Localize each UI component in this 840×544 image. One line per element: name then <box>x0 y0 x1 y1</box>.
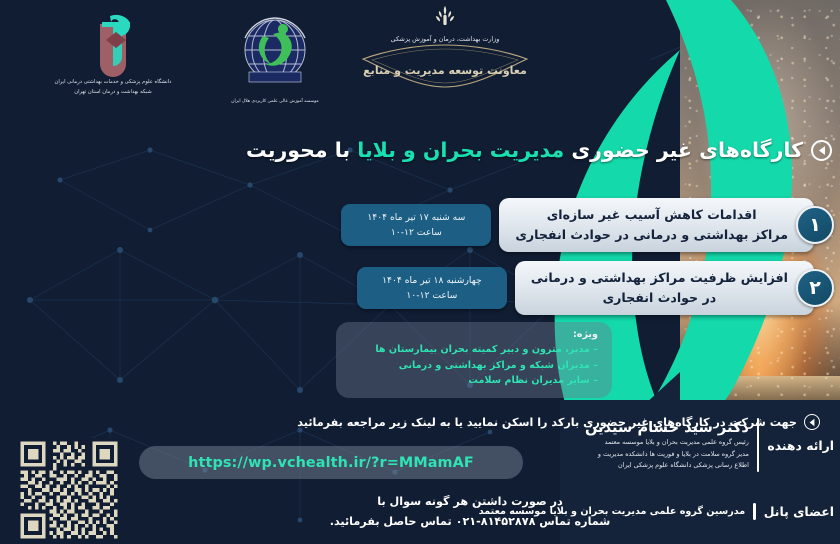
ministry-deputy-caption: معاونت توسعه مدیریت و منابع <box>345 64 545 77</box>
session-number-badge: ۲ <box>796 269 834 307</box>
presenter-title: مدیر گروه سلامت در بلایا و فوریت ها دانش… <box>585 449 749 460</box>
iums-logo-caption-line1: دانشگاه علوم پزشکی و خدمات بهداشتی درمان… <box>18 78 208 88</box>
presenter-details: دکتر سید حسام سیدین رئیس گروه علمی مدیری… <box>585 419 749 471</box>
audience-item: مدیر، مترون و دبیر کمیته بحران بیمارستان… <box>350 342 598 358</box>
session-time: ساعت ۱۲-۱۰ <box>391 225 442 240</box>
audience-list: مدیر، مترون و دبیر کمیته بحران بیمارستان… <box>350 342 598 389</box>
iums-logo: دانشگاه علوم پزشکی و خدمات بهداشتی درمان… <box>18 10 208 98</box>
title-suffix: با محوریت <box>246 138 350 162</box>
motamed-institute-logo: موسسه آموزش عالی علمی کاربردی هلال ایران <box>200 10 350 105</box>
panel-label: اعضای پانل <box>764 504 834 519</box>
session-row: ۱ اقدامات کاهش آسیب غیر سازه‌ای مراکز به… <box>341 198 834 252</box>
title-prefix: کارگاه‌های غیر حضوری <box>571 138 803 162</box>
audience-heading: ویژه: <box>350 329 598 340</box>
registration-link-button[interactable]: https://wp.vchealth.ir/?r=MMamAF <box>139 446 523 479</box>
session-time: ساعت ۱۲-۱۰ <box>406 288 457 303</box>
presenter-label: ارائه دهنده <box>767 438 834 453</box>
presenter-title: اطلاع رسانی پزشکی دانشگاه علوم پزشکی ایر… <box>585 460 749 471</box>
audience-item: سایر مدیران نظام سلامت <box>350 373 598 389</box>
qr-code-icon[interactable] <box>17 438 121 542</box>
motamed-logo-caption: موسسه آموزش عالی علمی کاربردی هلال ایران <box>200 98 350 105</box>
title-highlight: مدیریت بحران و بلایا <box>357 138 564 162</box>
ministry-of-health-logo: وزارت بهداشت، درمان و آموزش پزشکی معاونت… <box>345 4 545 108</box>
session-number-badge: ۱ <box>796 206 834 244</box>
session-row: ۲ افزایش ظرفیت مراکز بهداشتی و درمانی در… <box>357 261 834 315</box>
presenter-block: ارائه دهنده دکتر سید حسام سیدین رئیس گرو… <box>585 418 834 472</box>
panel-divider <box>753 503 756 520</box>
poster-canvas: دانشگاه علوم پزشکی و خدمات بهداشتی درمان… <box>0 0 840 544</box>
panel-members-text: مدرسین گروه علمی مدیریت بحران و بلایا مو… <box>479 506 746 517</box>
iums-logo-caption-line2: شبکه بهداشت و درمان استان تهران <box>18 88 208 98</box>
header-logos: دانشگاه علوم پزشکی و خدمات بهداشتی درمان… <box>0 0 560 126</box>
presenter-title: رئیس گروه علمی مدیریت بحران و بلایا موسس… <box>585 437 749 448</box>
chevron-left-circle-icon <box>811 140 832 161</box>
audience-item: مدیران شبکه و مراکز بهداشتی و درمانی <box>350 358 598 374</box>
session-date-plate: چهارشنبه ۱۸ تیر ماه ۱۴۰۴ ساعت ۱۲-۱۰ <box>357 267 507 309</box>
session-date: چهارشنبه ۱۸ تیر ماه ۱۴۰۴ <box>382 273 482 288</box>
session-title-line1: اقدامات کاهش آسیب غیر سازه‌ای <box>515 205 788 225</box>
panel-block: اعضای پانل مدرسین گروه علمی مدیریت بحران… <box>479 503 834 520</box>
session-title-line1: افزایش ظرفیت مراکز بهداشتی و درمانی <box>531 268 788 288</box>
registration-link-text: https://wp.vchealth.ir/?r=MMamAF <box>188 455 474 471</box>
session-date-plate: سه شنبه ۱۷ تیر ماه ۱۴۰۴ ساعت ۱۲-۱۰ <box>341 204 491 246</box>
presenter-divider <box>757 418 760 472</box>
presenter-name: دکتر سید حسام سیدین <box>585 419 749 437</box>
session-title-plate: افزایش ظرفیت مراکز بهداشتی و درمانی در ح… <box>515 261 814 315</box>
iran-emblem-icon <box>345 4 545 32</box>
iums-logo-mark <box>18 10 208 78</box>
session-title-plate: اقدامات کاهش آسیب غیر سازه‌ای مراکز بهدا… <box>499 198 814 252</box>
main-title: کارگاه‌های غیر حضوری مدیریت بحران و بلای… <box>246 138 832 162</box>
page-title: کارگاه‌های غیر حضوری مدیریت بحران و بلای… <box>246 138 803 162</box>
session-title-line2: مراکز بهداشتی و درمانی در حوادث انفجاری <box>515 225 788 245</box>
session-title-line2: در حوادث انفجاری <box>531 288 788 308</box>
audience-box: ویژه: مدیر، مترون و دبیر کمیته بحران بیم… <box>336 322 612 398</box>
session-date: سه شنبه ۱۷ تیر ماه ۱۴۰۴ <box>367 210 465 225</box>
ministry-caption: وزارت بهداشت، درمان و آموزش پزشکی <box>345 35 545 43</box>
motamed-logo-mark <box>200 10 350 98</box>
